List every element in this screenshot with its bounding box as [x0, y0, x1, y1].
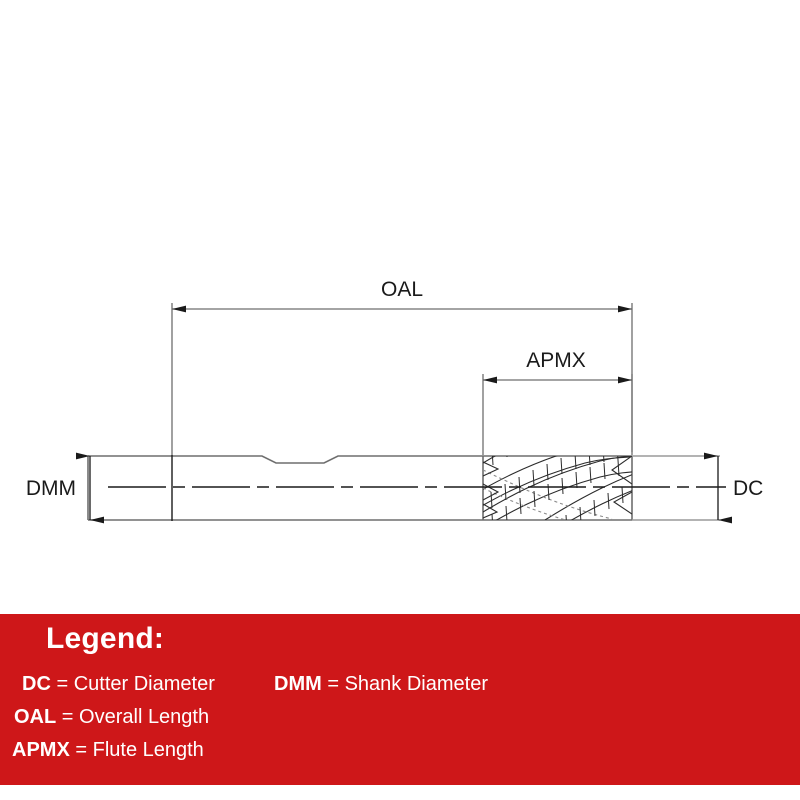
legend-abbr-oal: OAL — [14, 706, 56, 728]
dimension-dmm: DMM — [26, 456, 90, 520]
legend-abbr-dmm: DMM — [274, 673, 322, 695]
tool-body-outline — [88, 456, 483, 520]
page-footer-strip — [0, 785, 800, 800]
legend-separator: = — [327, 673, 339, 695]
dimension-apmx: APMX — [483, 349, 632, 455]
cutter-diameter-extension-box — [632, 456, 720, 520]
technical-drawing-area: OAL APMX DMM DC — [0, 0, 800, 614]
legend-separator: = — [75, 739, 87, 761]
apmx-label: APMX — [526, 349, 586, 372]
oal-label: OAL — [381, 278, 423, 301]
dmm-label: DMM — [26, 477, 76, 500]
dc-label: DC — [733, 477, 763, 500]
legend-abbr-apmx: APMX — [12, 739, 70, 761]
legend-abbr-dc: DC — [22, 673, 51, 695]
legend-band: Legend: DC = Cutter Diameter DMM = Shank… — [0, 614, 800, 785]
legend-item-oal: OAL = Overall Length — [14, 707, 209, 727]
legend-desc-oal: Overall Length — [79, 706, 209, 728]
end-mill-drawing-svg: OAL APMX DMM DC — [0, 0, 800, 614]
legend-separator: = — [62, 706, 74, 728]
legend-item-dc: DC = Cutter Diameter — [22, 674, 215, 694]
legend-item-dmm: DMM = Shank Diameter — [274, 674, 488, 694]
legend-desc-dc: Cutter Diameter — [74, 673, 215, 695]
flute-section — [455, 396, 672, 539]
legend-separator: = — [56, 673, 68, 695]
legend-item-apmx: APMX = Flute Length — [12, 740, 204, 760]
dimension-dc: DC — [718, 456, 763, 520]
legend-desc-dmm: Shank Diameter — [345, 673, 488, 695]
legend-title: Legend: — [46, 624, 164, 654]
diagram-page: OAL APMX DMM DC Legend: DC — [0, 0, 800, 800]
legend-desc-apmx: Flute Length — [93, 739, 204, 761]
